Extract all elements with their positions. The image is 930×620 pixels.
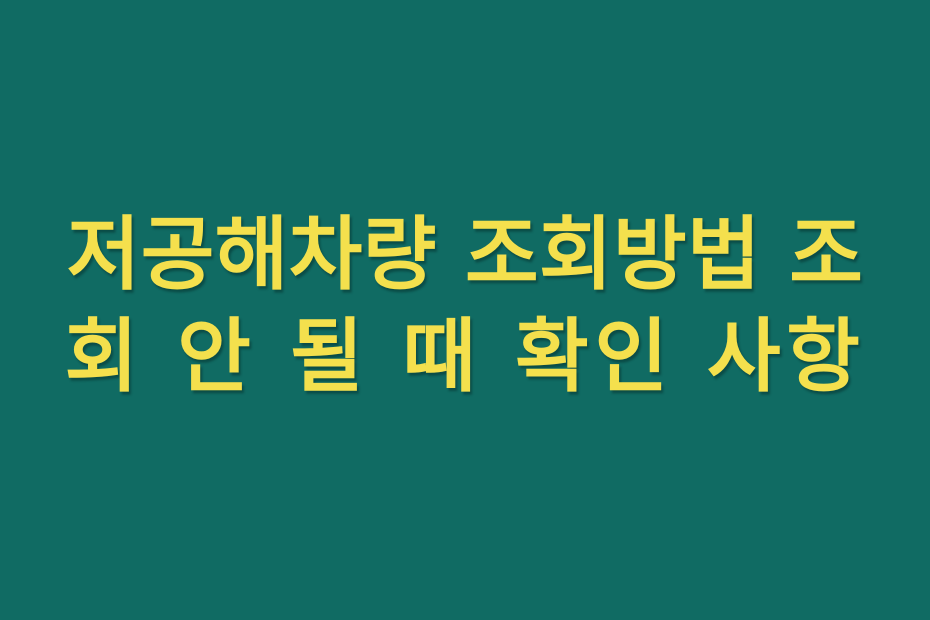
- title-block: 저공해차량 조회방법 조 회 안 될 때 확인 사항: [0, 204, 930, 409]
- title-line-2: 회 안 될 때 확인 사항: [0, 306, 930, 408]
- title-card: 저공해차량 조회방법 조 회 안 될 때 확인 사항: [0, 0, 930, 620]
- title-line-1: 저공해차량 조회방법 조: [0, 204, 930, 306]
